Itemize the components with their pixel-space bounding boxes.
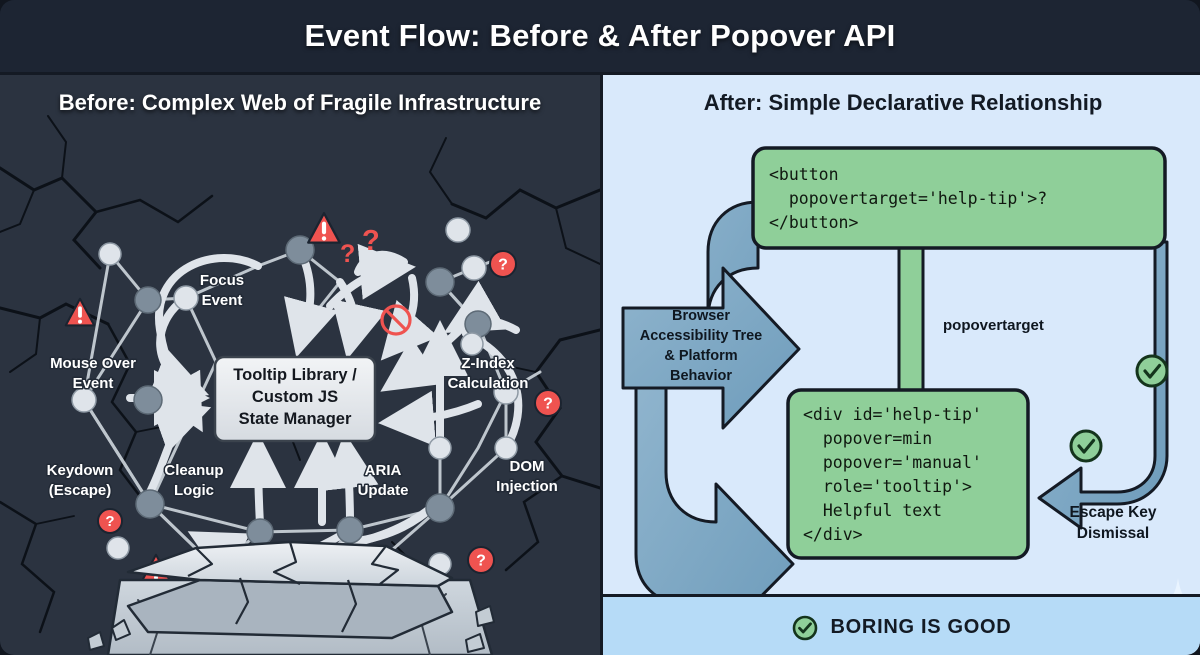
code-div-line-3: popover='manual'	[803, 453, 982, 472]
label-zindex-2: Calculation	[448, 375, 529, 392]
popovertarget-label: popovertarget	[943, 317, 1044, 334]
code-button-line-3: </button>	[769, 213, 858, 232]
fragile-web-graphic: Tooltip Library / Custom JS State Manage…	[0, 72, 600, 655]
label-dom-1: DOM	[510, 458, 545, 475]
svg-text:?: ?	[476, 553, 486, 570]
code-div-line-1: <div id='help-tip'	[803, 405, 982, 424]
escape-label-line-1: Escape Key	[1069, 504, 1156, 521]
banner-label: BORING IS GOOD	[831, 616, 1012, 639]
code-button-line-1: <button	[769, 165, 839, 184]
label-cleanup-1: Cleanup	[164, 462, 223, 479]
browser-arrow-line-3: & Platform	[664, 348, 737, 364]
svg-text:?: ?	[362, 225, 380, 257]
label-aria-2: Update	[358, 482, 409, 499]
code-block-button: <button popovertarget='help-tip'>? </but…	[753, 148, 1165, 248]
code-block-div: <div id='help-tip' popover=min popover='…	[788, 390, 1028, 558]
svg-text:?: ?	[543, 396, 553, 413]
code-div-line-5: Helpful text	[803, 501, 942, 520]
tooltip-library-hub: Tooltip Library / Custom JS State Manage…	[215, 357, 375, 441]
code-div-line-2: popover=min	[803, 429, 932, 448]
label-keydown-1: Keydown	[47, 462, 114, 479]
code-div-line-6: </div>	[803, 525, 863, 544]
svg-text:?: ?	[498, 257, 508, 274]
browser-arrow-line-2: Accessibility Tree	[640, 328, 763, 344]
code-button-line-2: popovertarget='help-tip'>?	[769, 189, 1047, 208]
svg-text:?: ?	[105, 513, 114, 530]
infographic-root: Event Flow: Before & After Popover API B…	[0, 0, 1200, 655]
label-cleanup-2: Logic	[174, 482, 214, 499]
label-focus-event-2: Event	[202, 292, 243, 309]
label-aria-1: ARIA	[365, 462, 402, 479]
label-zindex-1: Z-Index	[461, 355, 515, 372]
panel-after: After: Simple Declarative Relationship B…	[600, 72, 1200, 655]
browser-arrow-line-1: Browser	[672, 308, 730, 324]
label-dom-2: Injection	[496, 478, 558, 495]
label-focus-event-1: Focus	[200, 272, 244, 289]
check-circle-icon	[792, 615, 818, 641]
declarative-flow-graphic: Browser Accessibility Tree & Platform Be…	[603, 72, 1200, 655]
hub-line-1: Tooltip Library /	[233, 366, 357, 384]
panel-before: Before: Complex Web of Fragile Infrastru…	[0, 72, 600, 655]
check-circle-icon-group	[1071, 356, 1167, 461]
boring-is-good-banner: BORING IS GOOD	[603, 594, 1200, 655]
label-mouse-over-1: Mouse Over	[50, 355, 136, 372]
hub-line-3: State Manager	[239, 410, 352, 428]
hub-line-2: Custom JS	[252, 388, 338, 406]
svg-text:?: ?	[340, 240, 355, 268]
page-title: Event Flow: Before & After Popover API	[305, 18, 896, 54]
label-mouse-over-2: Event	[73, 375, 114, 392]
browser-arrow-line-4: Behavior	[670, 368, 732, 384]
code-div-line-4: role='tooltip'>	[803, 477, 972, 496]
label-keydown-2: (Escape)	[49, 482, 112, 499]
header-bar: Event Flow: Before & After Popover API	[0, 0, 1200, 72]
escape-label-line-2: Dismissal	[1077, 525, 1149, 542]
escape-dismissal-label: Escape Key Dismissal	[1069, 504, 1156, 542]
